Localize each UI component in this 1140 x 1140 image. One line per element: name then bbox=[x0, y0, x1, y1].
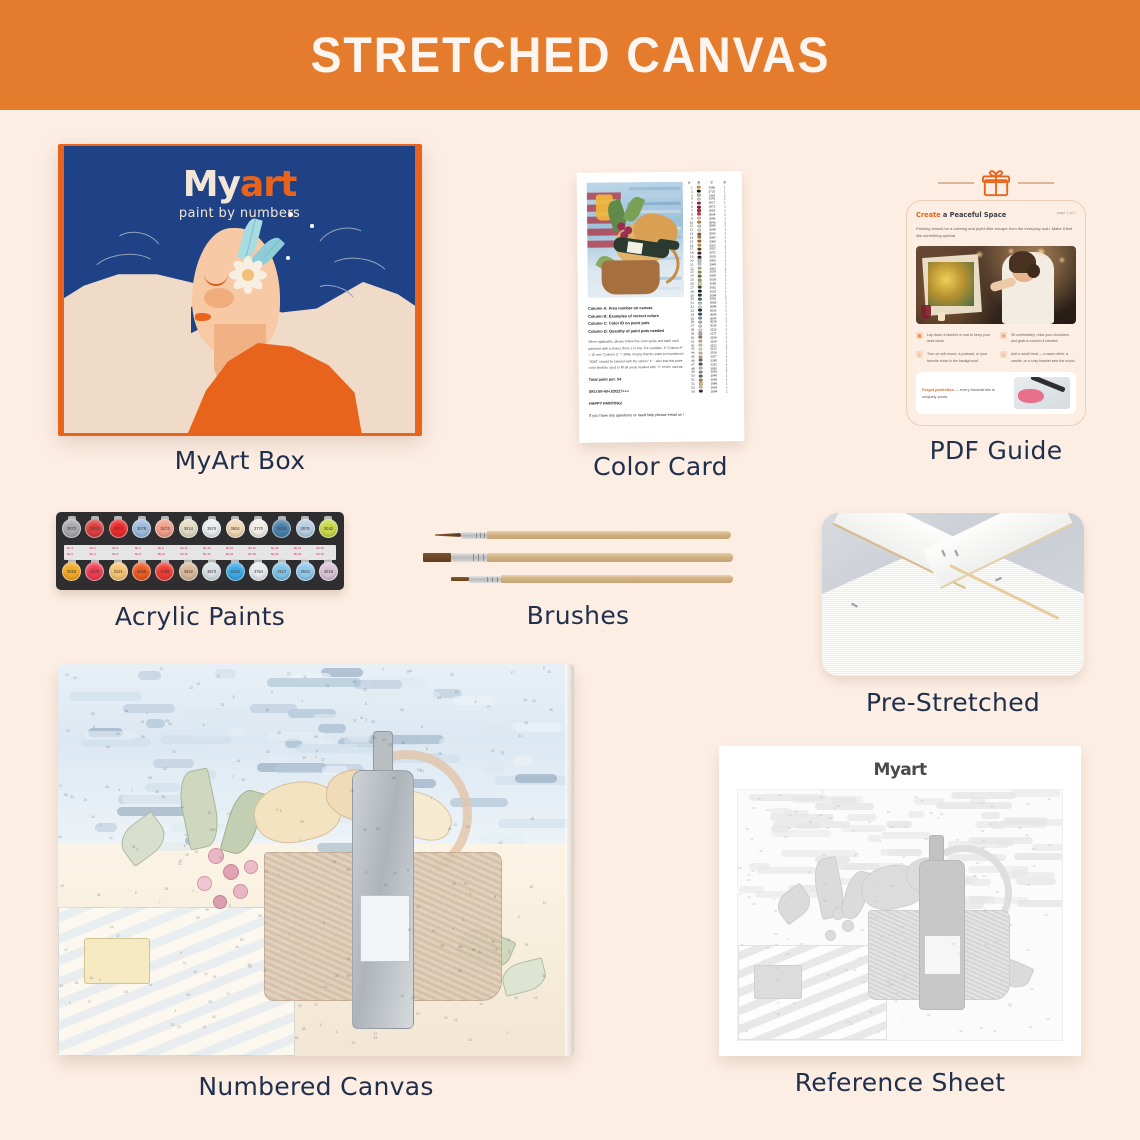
region-number: 28 bbox=[141, 735, 145, 739]
sky-wave-region bbox=[189, 728, 231, 737]
reference-region-number: 52 bbox=[927, 1013, 930, 1017]
reference-region-number: 14 bbox=[959, 952, 962, 956]
strip-number: No 24 bbox=[316, 553, 323, 556]
region-number: 8 bbox=[421, 725, 423, 729]
swatch-color-cell bbox=[696, 309, 704, 312]
reference-region-number: 43 bbox=[784, 835, 787, 839]
region-number: 9 bbox=[276, 808, 278, 812]
product-brushes: Brushes bbox=[423, 525, 733, 593]
paint-pot[interactable]: 3121 bbox=[109, 560, 128, 585]
paint-pot[interactable]: 3270 bbox=[85, 560, 104, 585]
region-number: 37 bbox=[116, 934, 120, 938]
pot-code-label: 3072 bbox=[67, 526, 76, 531]
swatch-color-cell bbox=[696, 263, 704, 266]
color-dot-icon bbox=[698, 263, 701, 266]
reference-region-number: 9 bbox=[896, 991, 898, 995]
strip-cell: No 3No 4 bbox=[87, 545, 110, 560]
paint-pot[interactable]: 3014 bbox=[179, 517, 198, 542]
paint-pot[interactable]: 3542 bbox=[179, 560, 198, 585]
brush-handle bbox=[487, 553, 733, 562]
sky-wave-region bbox=[250, 704, 297, 713]
color-dot-icon bbox=[698, 294, 701, 297]
reference-sky-wave bbox=[841, 825, 886, 832]
color-dot-icon bbox=[699, 324, 702, 327]
region-number: 7 bbox=[131, 789, 133, 793]
strip-number: No 3 bbox=[90, 547, 96, 550]
region-number: 20 bbox=[499, 841, 503, 845]
region-number: 1 bbox=[382, 667, 384, 671]
reference-sky-wave bbox=[815, 803, 874, 810]
region-number: 53 bbox=[373, 736, 377, 740]
swatch-color-cell bbox=[695, 236, 703, 239]
region-number: 36 bbox=[132, 845, 136, 849]
reference-region-number: 41 bbox=[1026, 948, 1029, 952]
pdf-title-row: page 1 of 1 Create a Peaceful Space bbox=[916, 211, 1076, 220]
pot-lid: 3124 bbox=[226, 562, 245, 581]
product-acrylic-paints: 3072303330113078317330143570362437703013… bbox=[56, 512, 344, 590]
paint-pot[interactable]: 3124 bbox=[226, 560, 245, 585]
region-number: 1 bbox=[299, 838, 301, 842]
region-number: 31 bbox=[335, 974, 339, 978]
region-number: 51 bbox=[73, 676, 77, 680]
reference-sky-wave bbox=[1011, 870, 1027, 877]
region-number: 22 bbox=[507, 938, 511, 942]
strip-number: No 22 bbox=[294, 553, 301, 556]
region-number: 28 bbox=[168, 722, 172, 726]
pot-lid: 3121 bbox=[109, 562, 128, 581]
region-number: 8 bbox=[494, 895, 496, 899]
pot-lid: 3270 bbox=[85, 562, 104, 581]
region-number: 14 bbox=[227, 812, 231, 816]
region-number: 37 bbox=[88, 1000, 92, 1004]
region-number: 17 bbox=[59, 784, 63, 788]
color-dot-icon bbox=[697, 205, 700, 208]
caption-brushes: Brushes bbox=[423, 601, 733, 630]
swatch-color-cell bbox=[696, 340, 704, 343]
swatch-color-cell bbox=[695, 259, 703, 262]
swatch-color-cell bbox=[695, 190, 703, 193]
thumbnail-basket bbox=[602, 260, 660, 295]
region-number: 25 bbox=[213, 975, 217, 979]
region-number: 37 bbox=[374, 1032, 378, 1036]
reference-region-number: 54 bbox=[800, 942, 803, 946]
region-number: 52 bbox=[212, 1015, 216, 1019]
region-number: 42 bbox=[333, 860, 337, 864]
paint-pot[interactable]: 3770 bbox=[249, 517, 268, 542]
reference-region-number: 33 bbox=[746, 827, 749, 831]
color-dot-icon bbox=[698, 290, 701, 293]
region-number: 31 bbox=[178, 862, 182, 866]
region-number: 10 bbox=[110, 925, 114, 929]
reference-sky-wave bbox=[847, 814, 877, 821]
paint-pot[interactable]: 3024 bbox=[296, 560, 315, 585]
swatch-color-cell bbox=[697, 386, 705, 389]
region-number: 26 bbox=[549, 708, 553, 712]
color-dot-icon bbox=[699, 355, 702, 358]
header-banner: STRETCHED CANVAS bbox=[0, 0, 1140, 110]
sky-wave-region bbox=[138, 671, 161, 680]
region-number: 47 bbox=[287, 672, 291, 676]
canvas-bottle-label bbox=[360, 895, 410, 962]
region-number: 54 bbox=[417, 768, 421, 772]
region-number: 5 bbox=[229, 904, 231, 908]
caption-acrylic-paints: Acrylic Paints bbox=[56, 602, 344, 631]
pdf-tips-grid: ▦ Lay down a blanket or mat to keep your… bbox=[916, 332, 1076, 365]
reference-region-number: 48 bbox=[828, 816, 831, 820]
pot-code-label: 3770 bbox=[254, 526, 263, 531]
reference-region-number: 5 bbox=[879, 839, 881, 843]
reference-region-number: 11 bbox=[747, 873, 750, 877]
pot-code-label: 3173 bbox=[160, 526, 169, 531]
region-number: 35 bbox=[363, 688, 367, 692]
swatch-color-cell bbox=[695, 217, 703, 220]
pdf-note-image bbox=[1014, 377, 1070, 409]
region-number: 53 bbox=[437, 696, 441, 700]
col-header-a: A bbox=[686, 181, 695, 185]
reference-region-number: 20 bbox=[938, 904, 941, 908]
region-number: 45 bbox=[514, 996, 518, 1000]
reference-region-number: 45 bbox=[750, 837, 753, 841]
reference-region-number: 11 bbox=[858, 956, 861, 960]
strip-number: No 1 bbox=[67, 547, 73, 550]
swatch-color-cell bbox=[696, 317, 704, 320]
reference-region-number: 49 bbox=[846, 1020, 849, 1024]
color-dot-icon bbox=[698, 301, 701, 304]
paint-pot-row-bottom: 3018327031213450318835423673312437643117… bbox=[62, 560, 338, 585]
color-dot-icon bbox=[698, 259, 701, 262]
reference-region-number: 21 bbox=[875, 916, 878, 920]
reference-region-number: 48 bbox=[984, 908, 987, 912]
region-number: 2 bbox=[365, 718, 367, 722]
reference-region-number: 17 bbox=[739, 892, 742, 896]
region-number: 32 bbox=[452, 882, 456, 886]
region-number: 6 bbox=[407, 868, 409, 872]
color-dot-icon bbox=[698, 271, 701, 274]
paint-pot[interactable]: 3173 bbox=[155, 517, 174, 542]
region-number: 4 bbox=[118, 788, 120, 792]
contact-text: If you have any questions or need help p… bbox=[589, 412, 685, 420]
region-number: 1 bbox=[301, 699, 303, 703]
color-dot-icon bbox=[699, 320, 702, 323]
swatch-color-cell bbox=[695, 240, 703, 243]
sky-wave-region bbox=[511, 723, 562, 732]
sparkle-dot bbox=[310, 224, 314, 228]
reference-region-number: 15 bbox=[868, 820, 871, 824]
reference-grape bbox=[842, 920, 854, 932]
reference-region-number: 19 bbox=[955, 893, 958, 897]
color-dot-icon bbox=[699, 386, 702, 389]
region-number: 42 bbox=[469, 1038, 473, 1042]
region-number: 14 bbox=[543, 901, 547, 905]
tip-item: ♨ Add a small treat — a warm drink, a ca… bbox=[1000, 351, 1076, 364]
reference-region-number: 43 bbox=[747, 895, 750, 899]
paint-pot[interactable]: 3570 bbox=[202, 517, 221, 542]
paint-pot[interactable]: 3018 bbox=[319, 560, 338, 585]
reference-region-number: 19 bbox=[929, 811, 932, 815]
swatch-color-cell bbox=[697, 390, 705, 393]
region-number: 15 bbox=[494, 948, 498, 952]
sky-wave-region bbox=[354, 680, 402, 689]
region-number: 50 bbox=[240, 938, 244, 942]
region-number: 38 bbox=[440, 944, 444, 948]
reference-region-number: 34 bbox=[1026, 802, 1029, 806]
region-number: 6 bbox=[135, 891, 137, 895]
paint-pot[interactable]: 3033 bbox=[85, 517, 104, 542]
reference-region-number: 28 bbox=[1047, 1017, 1050, 1021]
swatch-quantity: 1 bbox=[723, 389, 731, 393]
music-icon: ♪ bbox=[916, 351, 923, 358]
paint-pot[interactable]: 3078 bbox=[132, 517, 151, 542]
gift-icon bbox=[981, 169, 1011, 197]
strip-cell: No 13No 14 bbox=[200, 545, 223, 560]
reference-sky-wave bbox=[1017, 900, 1063, 907]
canvas-grape bbox=[213, 895, 227, 909]
swatch-color-cell bbox=[696, 301, 704, 304]
paint-pot[interactable]: 3013 bbox=[272, 517, 291, 542]
region-number: 27 bbox=[487, 705, 491, 709]
pot-lid: 3173 bbox=[155, 519, 174, 538]
strip-cell: No 7No 8 bbox=[132, 545, 155, 560]
region-number: 50 bbox=[371, 720, 375, 724]
caption-myart-box: MyArt Box bbox=[58, 446, 422, 475]
swatch-color-cell bbox=[697, 370, 705, 373]
strip-number: No 11 bbox=[180, 547, 187, 550]
swatch-color-id: 3084 bbox=[705, 389, 723, 393]
sky-wave-region bbox=[482, 766, 505, 775]
region-number: 30 bbox=[302, 756, 306, 760]
color-dot-icon bbox=[698, 282, 701, 285]
reference-region-number: 52 bbox=[752, 806, 755, 810]
region-number: 34 bbox=[542, 974, 546, 978]
paint-pot[interactable]: 3072 bbox=[62, 517, 81, 542]
pot-code-label: 3042 bbox=[324, 526, 333, 531]
paint-pot[interactable]: 3018 bbox=[62, 560, 81, 585]
region-number: 34 bbox=[523, 698, 527, 702]
paint-pot[interactable]: 3673 bbox=[202, 560, 221, 585]
reference-region-number: 52 bbox=[892, 930, 895, 934]
region-number: 48 bbox=[258, 914, 262, 918]
pot-lid: 3014 bbox=[179, 519, 198, 538]
region-number: 53 bbox=[389, 743, 393, 747]
strip-number: No 16 bbox=[226, 553, 233, 556]
reference-region-number: 50 bbox=[776, 966, 779, 970]
reference-region-number: 22 bbox=[820, 813, 823, 817]
reference-region-number: 8 bbox=[938, 816, 940, 820]
region-number: 1 bbox=[315, 755, 317, 759]
color-dot-icon bbox=[699, 359, 702, 362]
strip-cell: No 21No 22 bbox=[291, 545, 314, 560]
product-color-card: Column A: Area number on canvas Column B… bbox=[578, 172, 743, 442]
reference-region-number: 49 bbox=[981, 846, 984, 850]
strip-number: No 15 bbox=[226, 547, 233, 550]
tip-item: ▦ Lay down a blanket or mat to keep your… bbox=[916, 332, 992, 345]
swatch-color-cell bbox=[695, 251, 703, 254]
strip-cell: No 9No 10 bbox=[155, 545, 178, 560]
sku-text: SKU:50-40-U20227+++ bbox=[589, 387, 685, 395]
region-number: 35 bbox=[314, 735, 318, 739]
color-dot-icon bbox=[698, 305, 701, 308]
swatch-color-cell bbox=[695, 197, 703, 200]
region-number: 50 bbox=[376, 827, 380, 831]
sky-wave-region bbox=[145, 783, 180, 792]
reference-region-number: 17 bbox=[980, 801, 983, 805]
paint-pot[interactable]: 3624 bbox=[226, 517, 245, 542]
tip-text: Lay down a blanket or mat to keep your a… bbox=[927, 332, 992, 345]
color-dot-icon bbox=[698, 217, 701, 220]
pdf-hero-photo bbox=[916, 246, 1076, 324]
reference-region-number: 22 bbox=[1029, 1025, 1032, 1029]
reference-region-number: 22 bbox=[914, 795, 917, 799]
swatch-color-cell bbox=[696, 344, 704, 347]
product-pre-stretched: Pre-Stretched bbox=[822, 513, 1084, 676]
pdf-subtitle: Painting should be a calming and joyful … bbox=[916, 225, 1076, 239]
region-number: 28 bbox=[438, 752, 442, 756]
strip-number: No 7 bbox=[135, 547, 141, 550]
paint-pot[interactable]: 3011 bbox=[109, 517, 128, 542]
pdf-page-label: page 1 of 1 bbox=[1057, 211, 1076, 215]
reference-region-number: 20 bbox=[786, 952, 789, 956]
reference-region-number: 50 bbox=[887, 810, 890, 814]
pre-stretched-photo bbox=[822, 513, 1084, 676]
color-dot-icon bbox=[698, 228, 701, 231]
region-number: 7 bbox=[232, 775, 234, 779]
pdf-title-highlight: Create bbox=[916, 211, 941, 219]
caption-pdf-guide: PDF Guide bbox=[906, 436, 1086, 465]
reference-region-number: 40 bbox=[758, 797, 761, 801]
swatch-color-cell bbox=[696, 282, 704, 285]
pot-lid: 3024 bbox=[296, 562, 315, 581]
reference-region-number: 22 bbox=[874, 899, 877, 903]
reference-region-number: 30 bbox=[924, 837, 927, 841]
paint-pot[interactable]: 3075 bbox=[296, 517, 315, 542]
brush-ferrule bbox=[461, 532, 487, 539]
swatch-color-cell bbox=[696, 305, 704, 308]
region-number: 46 bbox=[530, 885, 534, 889]
region-number: 1 bbox=[192, 889, 194, 893]
page-title: STRETCHED CANVAS bbox=[310, 26, 830, 84]
reference-region-number: 42 bbox=[1032, 864, 1035, 868]
paint-pot[interactable]: 3117 bbox=[272, 560, 291, 585]
reference-sky-wave bbox=[1032, 844, 1063, 851]
reference-region-number: 14 bbox=[893, 953, 896, 957]
pot-code-label: 3542 bbox=[184, 569, 193, 574]
pot-code-label: 3764 bbox=[254, 569, 263, 574]
sky-wave-region bbox=[371, 692, 441, 701]
reference-region-number: 28 bbox=[1008, 923, 1011, 927]
product-myart-box: Myart paint by numbers MyArt Box bbox=[58, 144, 422, 436]
reference-region-number: 48 bbox=[942, 913, 945, 917]
thumbnail-bottle-label bbox=[627, 241, 643, 254]
reference-region-number: 51 bbox=[983, 874, 986, 878]
paint-pot[interactable]: 3042 bbox=[319, 517, 338, 542]
swatch-color-cell bbox=[696, 332, 704, 335]
region-number: 25 bbox=[363, 828, 367, 832]
region-number: 26 bbox=[455, 690, 459, 694]
region-number: 41 bbox=[204, 972, 208, 976]
swatch-color-cell bbox=[697, 367, 705, 370]
region-number: 14 bbox=[324, 985, 328, 989]
pot-lid: 3770 bbox=[249, 519, 268, 538]
region-number: 52 bbox=[408, 928, 412, 932]
region-number: 43 bbox=[266, 750, 270, 754]
color-dot-icon bbox=[699, 363, 702, 366]
strip-cell: No 17No 18 bbox=[245, 545, 268, 560]
region-number: 25 bbox=[326, 684, 330, 688]
sky-wave-region bbox=[313, 714, 357, 723]
swatch-color-cell bbox=[696, 336, 704, 339]
region-number: 23 bbox=[221, 703, 225, 707]
pot-code-label: 3117 bbox=[277, 569, 286, 574]
region-number: 4 bbox=[175, 1009, 177, 1013]
reference-region-number: 49 bbox=[822, 853, 825, 857]
region-number: 37 bbox=[353, 719, 357, 723]
reference-sky-wave bbox=[970, 797, 986, 804]
swatch-color-cell bbox=[696, 351, 704, 354]
color-dot-icon bbox=[699, 382, 702, 385]
region-number: 47 bbox=[64, 948, 68, 952]
sky-wave-region bbox=[183, 707, 258, 716]
region-number: 1 bbox=[506, 1031, 508, 1035]
region-number: 17 bbox=[511, 671, 515, 675]
drink-icon: ♨ bbox=[1000, 351, 1007, 358]
strip-cell: No 5No 6 bbox=[109, 545, 132, 560]
brush-handle bbox=[501, 575, 733, 583]
brush-tip bbox=[423, 553, 451, 562]
reference-region-number: 47 bbox=[777, 1001, 780, 1005]
paint-pot[interactable]: 3188 bbox=[155, 560, 174, 585]
color-dot-icon bbox=[698, 240, 701, 243]
pot-lid: 3624 bbox=[226, 519, 245, 538]
sky-wave-region bbox=[123, 704, 175, 713]
reference-region-number: 18 bbox=[860, 928, 863, 932]
reference-region-number: 48 bbox=[955, 980, 958, 984]
reference-grape bbox=[825, 930, 836, 941]
reference-region-number: 38 bbox=[836, 804, 839, 808]
paint-pot[interactable]: 3450 bbox=[132, 560, 151, 585]
color-dot-icon bbox=[698, 309, 701, 312]
region-number: 13 bbox=[65, 673, 69, 677]
strip-cell: No 15No 16 bbox=[223, 545, 246, 560]
reference-region-number: 18 bbox=[788, 826, 791, 830]
pot-code-label: 3018 bbox=[324, 569, 333, 574]
sky-wave-region bbox=[480, 726, 516, 735]
color-dot-icon bbox=[698, 297, 701, 300]
region-number: 16 bbox=[524, 721, 528, 725]
reference-region-number: 46 bbox=[766, 808, 769, 812]
region-number: 6 bbox=[323, 921, 325, 925]
swatch-color-cell bbox=[695, 255, 703, 258]
brush-ferrule bbox=[451, 553, 487, 562]
region-number: 35 bbox=[91, 712, 95, 716]
strip-cell: No 1No 2 bbox=[64, 545, 87, 560]
region-number: 39 bbox=[205, 908, 209, 912]
reference-region-number: 25 bbox=[940, 812, 943, 816]
sky-wave-region bbox=[95, 823, 118, 832]
region-number: 14 bbox=[236, 759, 240, 763]
region-number: 6 bbox=[180, 951, 182, 955]
pot-code-label: 3078 bbox=[137, 526, 146, 531]
reference-region-number: 44 bbox=[778, 793, 781, 797]
region-number: 14 bbox=[180, 805, 184, 809]
sky-wave-region bbox=[439, 738, 462, 747]
strip-number: No 21 bbox=[294, 547, 301, 550]
paint-pot[interactable]: 3764 bbox=[249, 560, 268, 585]
reference-region-number: 2 bbox=[871, 1006, 873, 1010]
swatch-color-cell bbox=[696, 320, 704, 323]
region-number: 8 bbox=[475, 700, 477, 704]
brush-tip bbox=[435, 533, 461, 537]
happy-painting-text: HAPPY PAINTING! bbox=[589, 400, 685, 408]
